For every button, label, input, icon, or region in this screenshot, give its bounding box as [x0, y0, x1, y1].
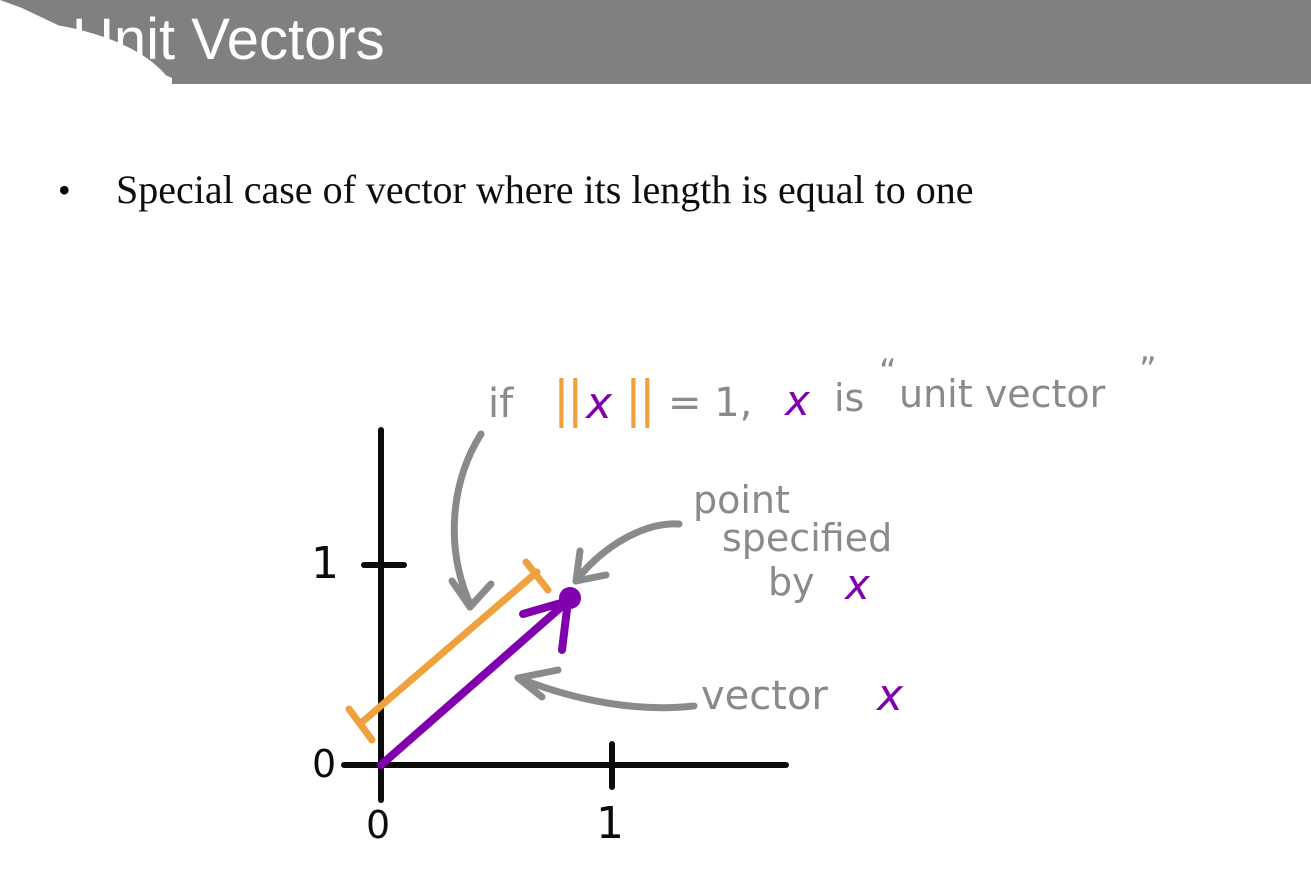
norm-annotation-unit-vector: unit vector — [899, 372, 1105, 416]
norm-annotation-bar-left: || — [553, 370, 581, 428]
norm-annotation-x-right: x — [785, 376, 810, 425]
norm-annotation-bar-right: || — [625, 370, 653, 428]
norm-length-bracket — [349, 562, 548, 740]
norm-bracket-cap-start — [349, 709, 372, 740]
bullet-list-item: • Special case of vector where its lengt… — [58, 163, 1258, 217]
norm-annotation-arrow — [452, 434, 491, 607]
vector-annotation-arrowhead-top — [518, 670, 558, 678]
unit-vector-ink-diagram — [0, 0, 1311, 872]
vector-annotation-label-x: x — [877, 670, 903, 721]
norm-annotation-is: is — [834, 376, 864, 420]
bullet-marker-icon: • — [58, 163, 116, 217]
bullet-item-label: Special case of vector where its length … — [116, 163, 973, 217]
point-annotation-line-3-by: by — [768, 560, 815, 604]
vector-annotation-arrowhead-bottom — [518, 678, 542, 697]
point-annotation-line-3-x: x — [845, 560, 870, 609]
norm-annotation-quote-open: “ — [879, 352, 897, 392]
vector-x-arrowhead-barb-left — [523, 601, 568, 614]
point-annotation-arrowhead-top — [576, 551, 580, 581]
norm-annotation-if: if — [488, 381, 513, 427]
vector-x-arrow — [381, 587, 581, 765]
vector-x-arrowhead-barb-down — [562, 601, 568, 650]
page-title: Unit Vectors — [72, 2, 385, 78]
point-annotation-arrowhead-bottom — [576, 575, 606, 581]
norm-bracket-cap-end — [526, 562, 548, 590]
x-axis-tick-label-1: 1 — [596, 798, 624, 849]
norm-annotation-arrowhead-left — [452, 581, 470, 607]
point-specified-by-x-dot — [559, 587, 581, 609]
point-annotation-line-2: specified — [722, 516, 892, 560]
norm-annotation-quote-close: ” — [1139, 350, 1157, 390]
norm-bracket-shaft — [361, 572, 537, 723]
x-axis-tick-label-0: 0 — [366, 803, 390, 847]
norm-annotation-x-left: x — [586, 378, 612, 429]
point-annotation-arrow — [576, 524, 679, 581]
y-axis-tick-label-1: 1 — [311, 538, 339, 589]
y-axis-tick-label-0: 0 — [312, 742, 336, 786]
slide-title-banner: Unit Vectors — [0, 0, 1311, 84]
norm-annotation-equals-one: = 1, — [668, 380, 752, 426]
vector-annotation-arrow — [518, 670, 694, 708]
point-annotation-arrow-curve — [578, 524, 679, 578]
vector-annotation-label: vector — [701, 673, 828, 719]
norm-annotation-arrowhead-right — [470, 584, 491, 607]
norm-annotation-arrow-curve — [454, 434, 481, 604]
vector-x-shaft — [381, 601, 568, 765]
vector-annotation-arrow-curve — [521, 679, 694, 708]
